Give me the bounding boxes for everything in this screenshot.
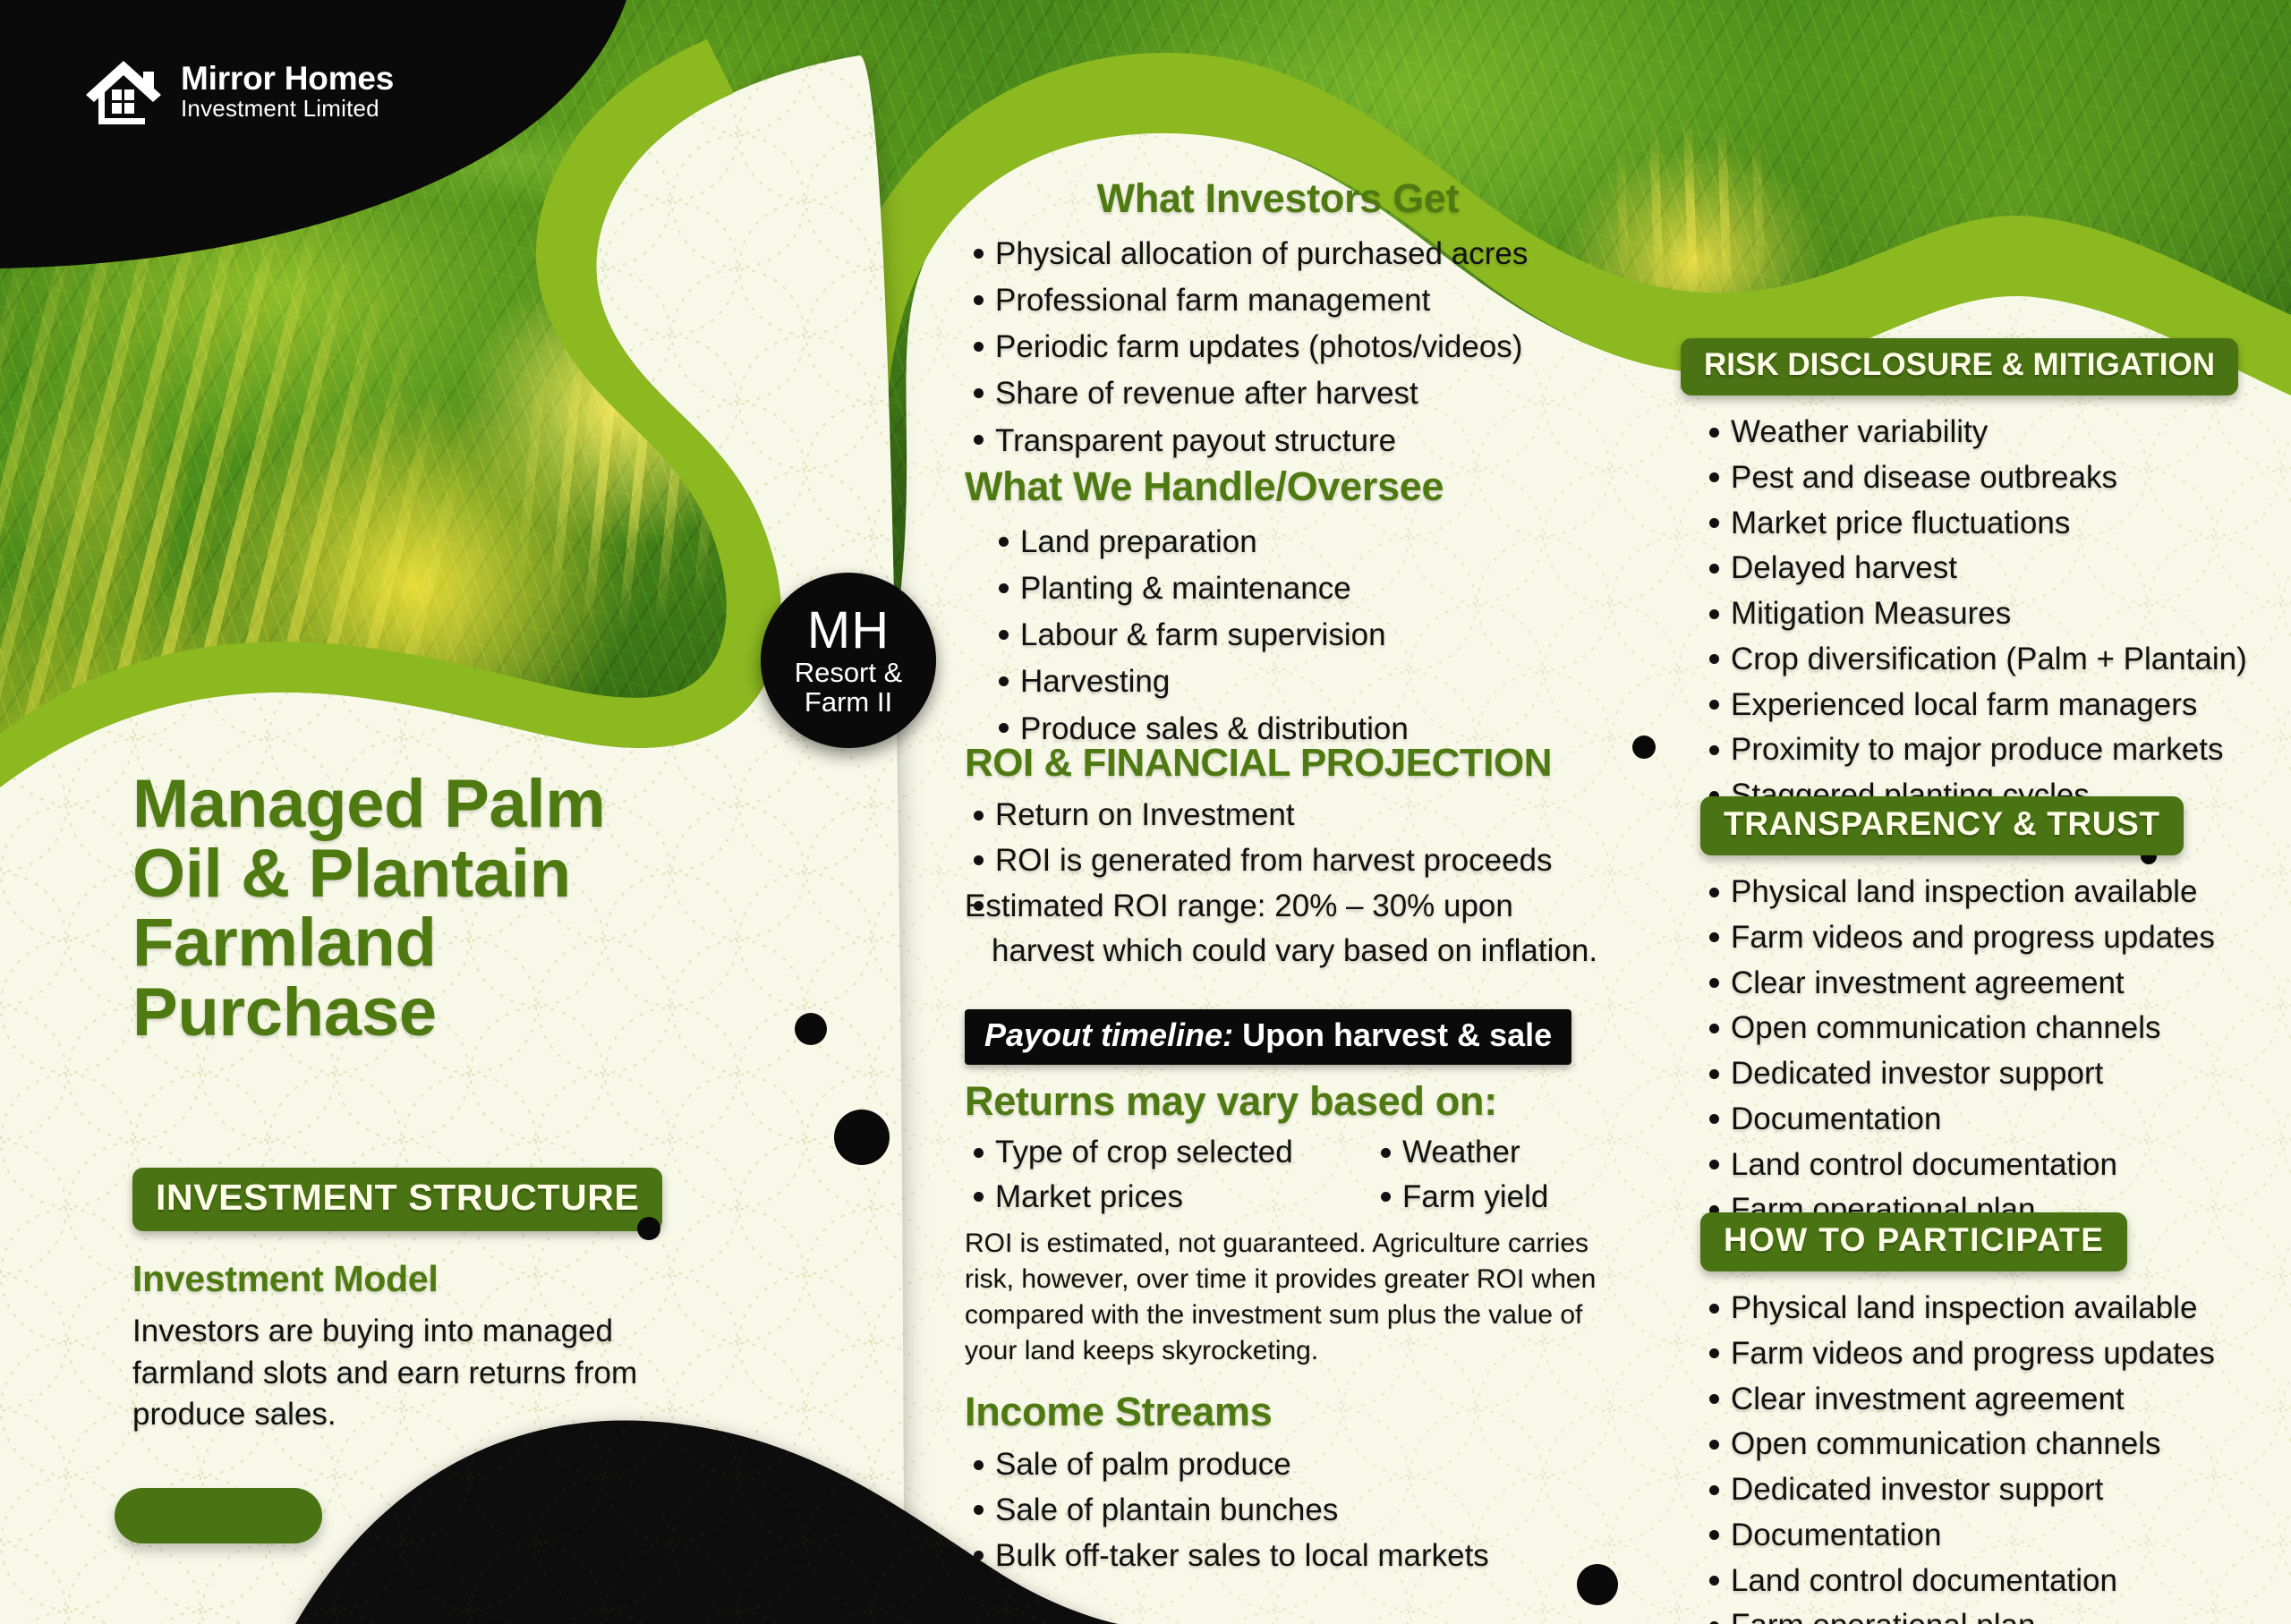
transparency-trust-section: TRANSPARENCY & TRUST Physical land inspe… <box>1681 796 2271 1233</box>
list-item: Market prices <box>965 1175 1372 1220</box>
list-item: Dedicated investor support <box>1700 1467 2271 1513</box>
investment-model-body: Investors are buying into managed farmla… <box>132 1311 705 1436</box>
what-we-handle-list: Land preparation Planting & maintenance … <box>965 519 1591 752</box>
risk-disclosure-list: Weather variability Pest and disease out… <box>1681 410 2271 819</box>
page-title: Managed Palm Oil & Plantain Farmland Pur… <box>132 769 759 1047</box>
title-line-2: Oil & Plantain <box>132 839 759 909</box>
what-we-handle-heading: What We Handle/Oversee <box>965 463 1591 510</box>
list-item: Professional farm management <box>965 277 1591 324</box>
list-item: Weather variability <box>1700 410 2271 455</box>
list-item: Pest and disease outbreaks <box>1700 455 2271 501</box>
title-line-3: Farmland <box>132 908 759 978</box>
payout-label: Payout timeline: <box>984 1016 1233 1053</box>
list-item: Weather <box>1372 1130 1548 1175</box>
payout-timeline-bar: Payout timeline: Upon harvest & sale <box>965 1009 1571 1065</box>
list-item: Dedicated investor support <box>1700 1051 2271 1097</box>
list-item: Land control documentation <box>1700 1143 2271 1188</box>
list-item: Harvesting <box>990 659 1591 705</box>
house-icon <box>82 55 165 127</box>
list-item: Market price fluctuations <box>1700 501 2271 547</box>
brand-tagline: Investment Limited <box>181 97 394 121</box>
list-item: Delayed harvest <box>1700 546 2271 591</box>
infographic-poster: Mirror Homes Investment Limited MH Resor… <box>0 0 2291 1624</box>
returns-vary-list-right: Weather Farm yield <box>1372 1130 1548 1219</box>
risk-disclosure-section: RISK DISCLOSURE & MITIGATION Weather var… <box>1681 338 2271 819</box>
list-item: Clear investment agreement <box>1700 1377 2271 1423</box>
title-line-4: Purchase <box>132 978 759 1048</box>
list-item: Farm videos and progress updates <box>1700 1331 2271 1377</box>
mh-resort-farm-badge: MH Resort & Farm II <box>761 573 936 748</box>
what-investors-get-list: Physical allocation of purchased acres P… <box>965 231 1591 464</box>
badge-initials: MH <box>807 603 890 658</box>
list-item: Land control documentation <box>1700 1559 2271 1604</box>
payout-value: Upon harvest & sale <box>1242 1016 1552 1053</box>
list-item: Labour & farm supervision <box>990 612 1591 659</box>
what-investors-get-heading: What Investors Get <box>965 175 1591 222</box>
list-item: ROI is generated from harvest proceeds <box>965 838 1618 884</box>
investment-structure-chip: INVESTMENT STRUCTURE <box>132 1168 662 1231</box>
decor-dot-tiny-left <box>637 1217 660 1240</box>
returns-vary-list-left: Type of crop selected Market prices <box>965 1130 1372 1219</box>
what-investors-get-section: What Investors Get Physical allocation o… <box>965 175 1591 464</box>
transparency-trust-list: Physical land inspection available Farm … <box>1681 870 2271 1233</box>
brand-name: Mirror Homes <box>181 62 394 97</box>
cta-pill-button[interactable] <box>115 1488 322 1543</box>
list-item: Documentation <box>1700 1097 2271 1143</box>
list-item: Physical allocation of purchased acres <box>965 231 1591 277</box>
list-item: Documentation <box>1700 1513 2271 1559</box>
transparency-trust-chip: TRANSPARENCY & TRUST <box>1700 796 2184 855</box>
list-item: Experienced local farm managers <box>1700 683 2271 728</box>
list-item: Land preparation <box>990 519 1591 565</box>
title-line-1: Managed Palm <box>132 769 759 839</box>
list-item: Physical land inspection available <box>1700 1286 2271 1331</box>
risk-disclosure-chip: RISK DISCLOSURE & MITIGATION <box>1681 338 2238 395</box>
list-item: Sale of plantain bunches <box>965 1488 1618 1534</box>
list-item: Return on Investment <box>965 793 1618 838</box>
how-to-participate-section: HOW TO PARTICIPATE Physical land inspect… <box>1681 1212 2271 1624</box>
decor-dot-tiny-right <box>1632 735 1656 759</box>
list-item: Proximity to major produce markets <box>1700 727 2271 773</box>
how-to-participate-list: Physical land inspection available Farm … <box>1681 1286 2271 1624</box>
income-streams-heading: Income Streams <box>965 1389 1618 1435</box>
list-item: Physical land inspection available <box>1700 870 2271 915</box>
returns-vary-heading: Returns may vary based on: <box>965 1078 1618 1125</box>
what-we-handle-section: What We Handle/Oversee Land preparation … <box>965 463 1591 752</box>
investment-structure-section: INVESTMENT STRUCTURE Investment Model In… <box>132 1168 759 1436</box>
list-item: Transparent payout structure <box>965 418 1591 464</box>
income-streams-section: Income Streams Sale of palm produce Sale… <box>965 1389 1618 1578</box>
decor-dot-large <box>834 1110 890 1165</box>
list-item: Crop diversification (Palm + Plantain) <box>1700 637 2271 683</box>
roi-heading: ROI & FINANCIAL PROJECTION <box>965 741 1618 786</box>
returns-vary-section: Returns may vary based on: Type of crop … <box>965 1078 1618 1219</box>
decor-dot-small <box>795 1013 827 1045</box>
list-item: Estimated ROI range: 20% – 30% upon harv… <box>965 884 1618 975</box>
roi-section: ROI & FINANCIAL PROJECTION Return on Inv… <box>965 741 1618 974</box>
list-item: Clear investment agreement <box>1700 961 2271 1007</box>
list-item: Farm yield <box>1372 1175 1548 1220</box>
list-item: Mitigation Measures <box>1700 591 2271 637</box>
badge-line-2: Farm II <box>805 688 892 718</box>
roi-disclaimer: ROI is estimated, not guaranteed. Agricu… <box>965 1226 1602 1369</box>
list-item: Share of revenue after harvest <box>965 370 1591 417</box>
list-item: Sale of palm produce <box>965 1442 1618 1488</box>
brand-logo: Mirror Homes Investment Limited <box>82 55 394 127</box>
list-item: Farm operational plan <box>1700 1603 2271 1624</box>
roi-list: Return on Investment ROI is generated fr… <box>965 793 1618 974</box>
list-item: Periodic farm updates (photos/videos) <box>965 324 1591 370</box>
list-item: Farm videos and progress updates <box>1700 915 2271 961</box>
investment-model-heading: Investment Model <box>132 1258 759 1300</box>
how-to-participate-chip: HOW TO PARTICIPATE <box>1700 1212 2127 1271</box>
list-item: Planting & maintenance <box>990 565 1591 612</box>
badge-line-1: Resort & <box>795 659 903 688</box>
list-item: Open communication channels <box>1700 1006 2271 1051</box>
list-item: Bulk off-taker sales to local markets <box>965 1534 1618 1579</box>
list-item: Open communication channels <box>1700 1422 2271 1467</box>
list-item: Type of crop selected <box>965 1130 1372 1175</box>
income-streams-list: Sale of palm produce Sale of plantain bu… <box>965 1442 1618 1578</box>
